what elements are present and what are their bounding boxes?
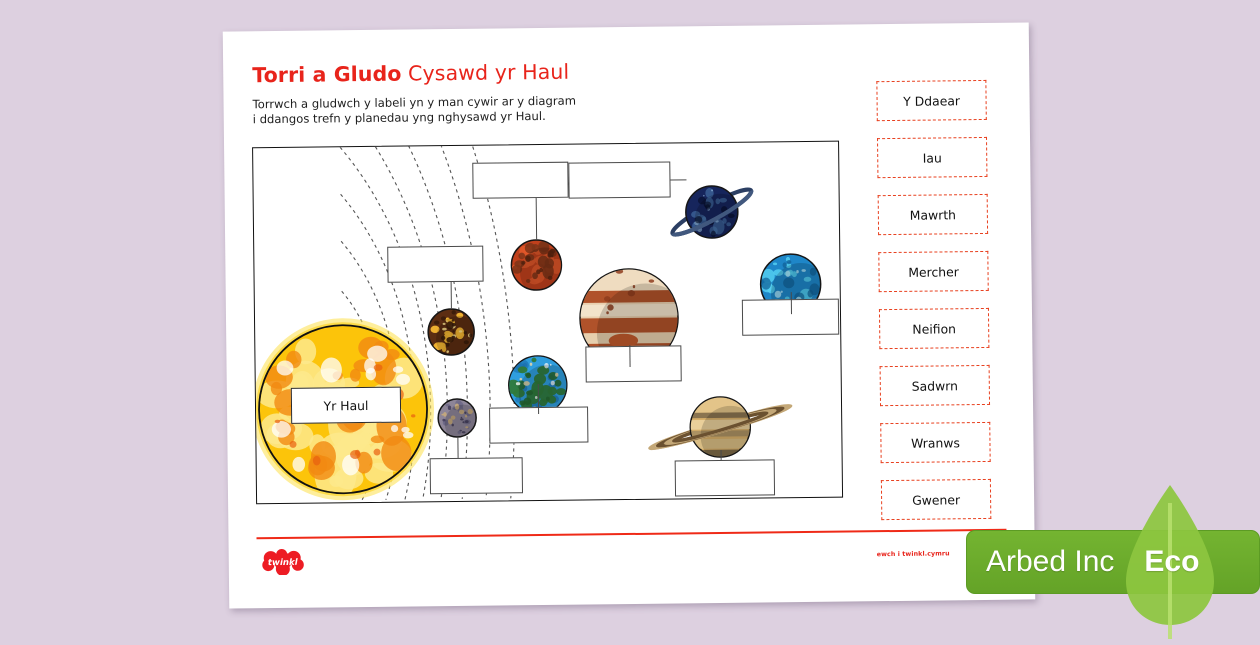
planet-gwener [428, 309, 482, 363]
cut-out-card-list: Y DdaearIauMawrthMercherNeifionSadwrnWra… [876, 50, 1006, 501]
instructions-text: Torrwch a gludwch y labeli yn y man cywi… [252, 94, 576, 128]
cut-out-card-label: Mercher [908, 264, 959, 280]
slot-mercher[interactable] [430, 457, 523, 494]
cut-out-card-neifion[interactable]: Neifion [879, 308, 989, 349]
connector-line [791, 292, 793, 314]
planet-mercher [438, 399, 483, 443]
eco-text-left: Arbed Inc [986, 545, 1114, 579]
connector-line [629, 345, 631, 367]
footer-divider [256, 529, 1006, 540]
connector-line [670, 179, 686, 181]
title-light-part: Cysawd yr Haul [401, 60, 569, 86]
slot-iau[interactable] [585, 345, 681, 382]
cut-out-card-label: Wranws [911, 435, 960, 451]
cut-out-card-label: Mawrth [910, 207, 956, 223]
eco-label: Arbed Inc Eco [966, 530, 1260, 594]
slot-neifion[interactable] [568, 162, 670, 199]
slot-mawrth[interactable] [472, 162, 568, 199]
cut-out-card-iau[interactable]: Iau [877, 137, 987, 178]
twinkl-logo: twinkl [261, 549, 305, 575]
page-title: Torri a Gludo Cysawd yr Haul [252, 60, 569, 88]
cut-out-card-label: Gwener [912, 492, 960, 508]
eco-text-right: Eco [1144, 545, 1199, 579]
connector-line [457, 437, 459, 458]
svg-text:twinkl: twinkl [268, 558, 299, 568]
cut-out-card-mawrth[interactable]: Mawrth [878, 194, 988, 235]
cut-out-card-label: Neifion [912, 321, 956, 336]
screenshot-root: Torri a Gludo Cysawd yr Haul Torrwch a g… [0, 0, 1260, 630]
title-bold-part: Torri a Gludo [252, 62, 401, 88]
cut-out-card-label: Sadwrn [912, 378, 958, 394]
solar-system-diagram: Yr Haul [252, 141, 843, 505]
cut-out-card-mercher[interactable]: Mercher [878, 251, 988, 292]
eco-watermark-overlay: Arbed Inc Eco [966, 530, 1260, 594]
slot-sadwrn[interactable] [675, 459, 775, 496]
cut-out-card-label: Iau [923, 150, 942, 165]
worksheet-page: Torri a Gludo Cysawd yr Haul Torrwch a g… [223, 22, 1035, 608]
cut-out-card-label: Y Ddaear [903, 93, 960, 109]
planet-neifion [668, 184, 755, 247]
connector-line [721, 450, 722, 458]
cut-out-card-y-ddaear[interactable]: Y Ddaear [876, 80, 986, 121]
sun-label-text: Yr Haul [324, 397, 369, 413]
connector-line [451, 282, 453, 309]
slot-gwener[interactable] [387, 246, 483, 283]
planet-mawrth [511, 240, 570, 298]
cut-out-card-gwener[interactable]: Gwener [881, 479, 991, 520]
footer-website-url[interactable]: ewch i twinkl.cymru [877, 550, 950, 558]
cut-out-card-wranws[interactable]: Wranws [880, 422, 990, 463]
sun-label-yr-haul: Yr Haul [291, 387, 401, 424]
cut-out-card-sadwrn[interactable]: Sadwrn [880, 365, 990, 406]
